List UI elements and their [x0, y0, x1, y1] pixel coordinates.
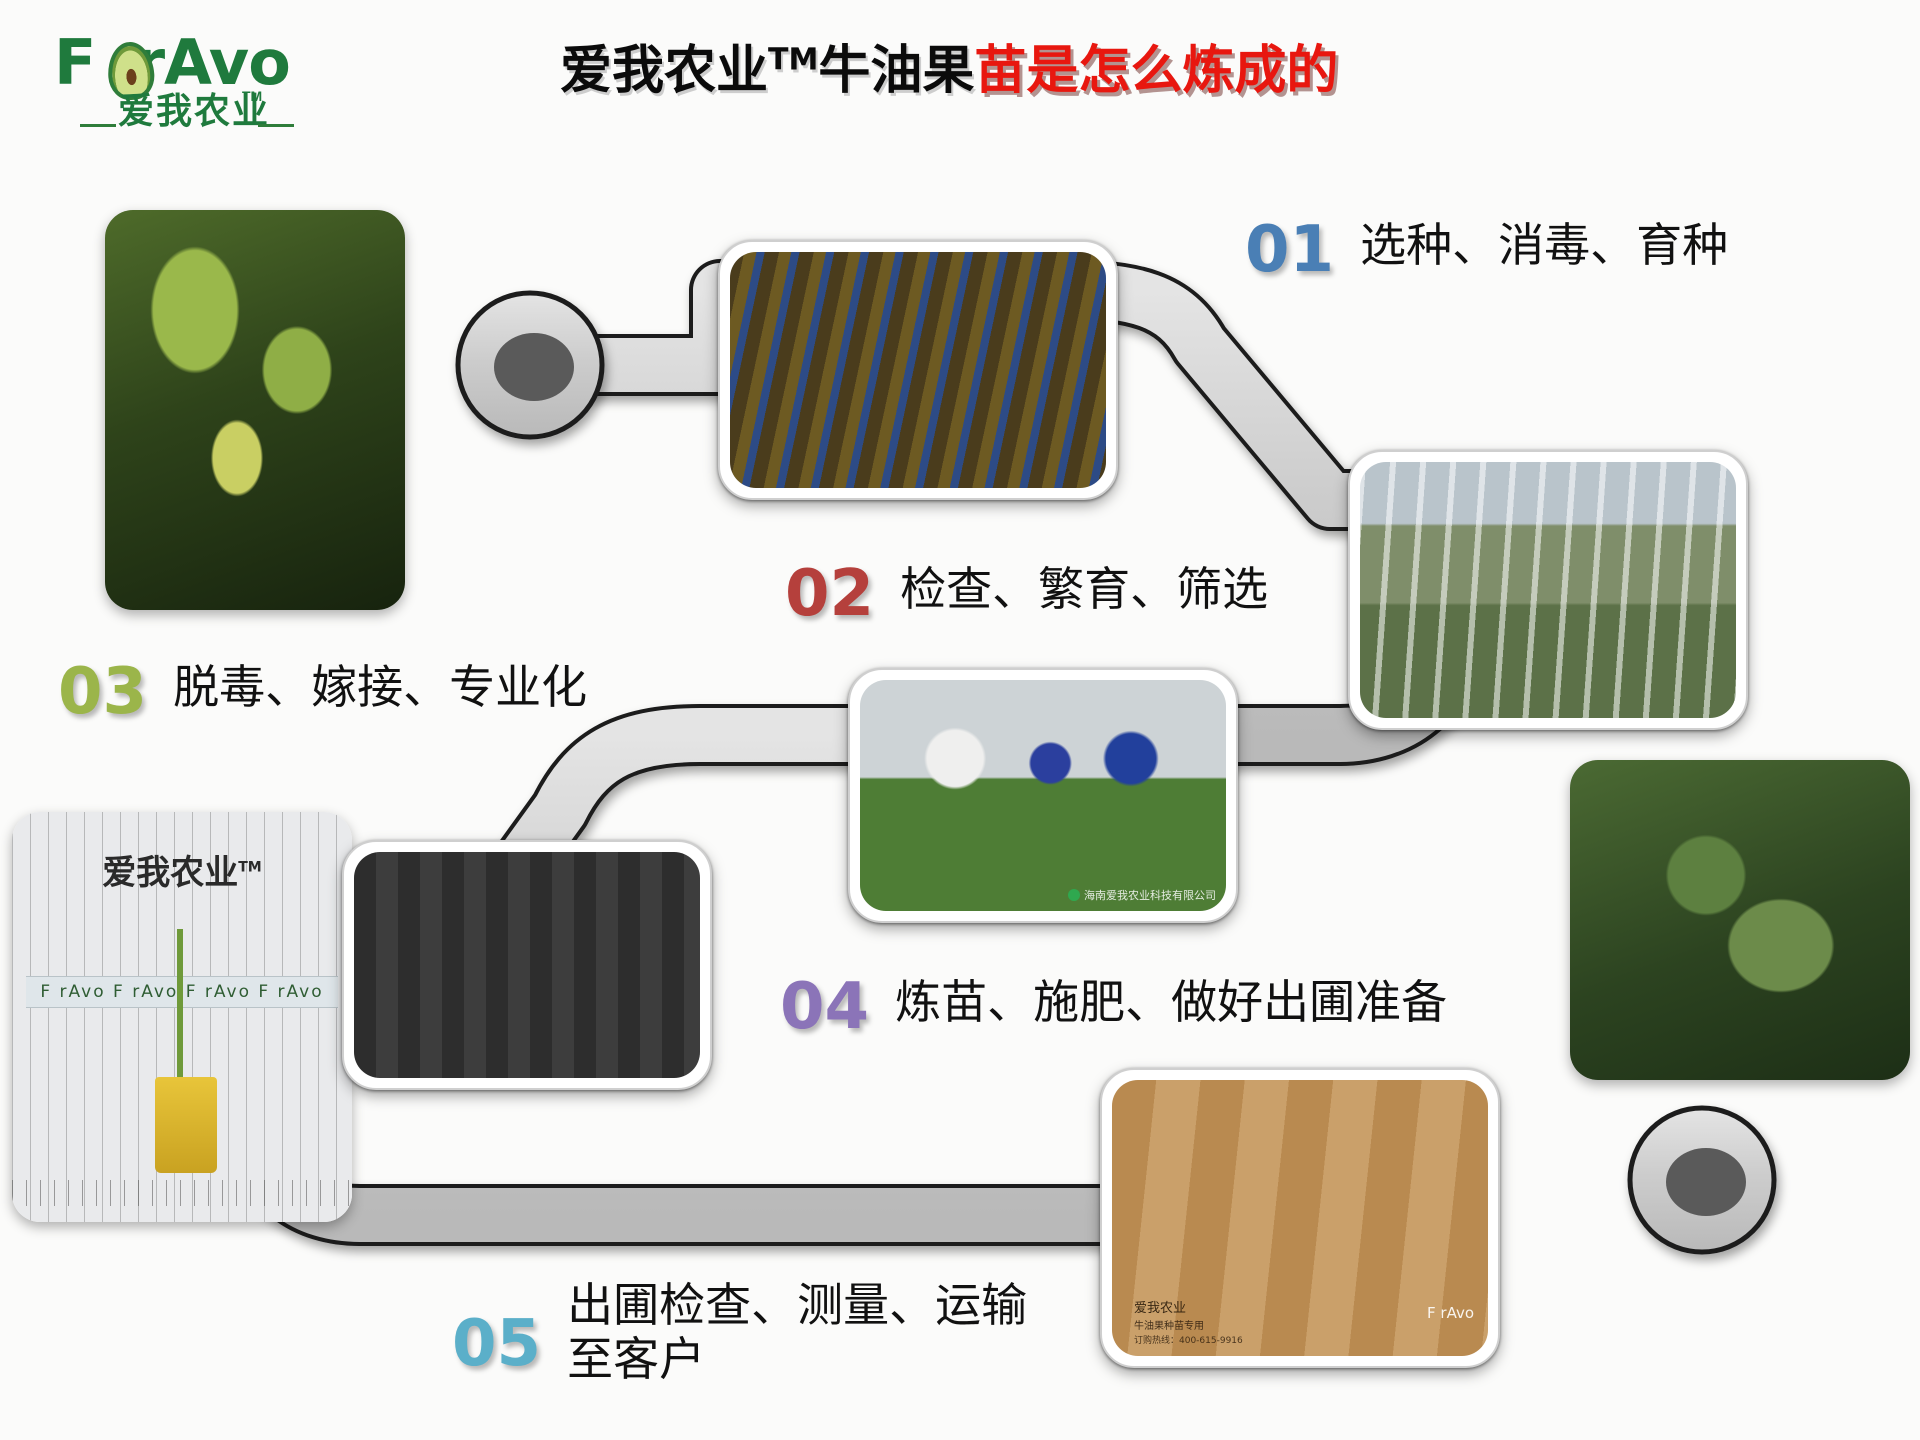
flowering-avocado-branch-photo	[105, 210, 405, 610]
box-sublabel: 牛油果种苗专用	[1134, 1317, 1204, 1332]
step-03-number: 03	[58, 660, 147, 724]
ruler-caption-tm: TM	[238, 859, 261, 875]
flow-end-knob	[1630, 1108, 1774, 1252]
box-label-brand: 爱我农业	[1134, 1301, 1186, 1316]
step-05: 05 出圃检查、测量、运输 至客户	[452, 1278, 1027, 1387]
step-01-text: 选种、消毒、育种	[1360, 218, 1728, 272]
step-01-number: 01	[1245, 218, 1334, 282]
step-03: 03 脱毒、嫁接、专业化	[58, 660, 587, 724]
step-05-number: 05	[452, 1312, 541, 1376]
step-04-number: 04	[780, 975, 869, 1039]
box-label: 爱我农业	[1134, 1297, 1186, 1316]
seed-germination-trays-photo	[718, 240, 1118, 500]
avocado-fruit-on-tree-photo	[1570, 760, 1910, 1080]
step-03-text: 脱毒、嫁接、专业化	[173, 660, 587, 714]
step-02-text: 检查、繁育、筛选	[900, 562, 1268, 616]
seedling-pot	[155, 1077, 217, 1173]
step-04-text: 炼苗、施肥、做好出圃准备	[895, 975, 1447, 1029]
seedling-stem	[177, 929, 183, 1099]
step-04: 04 炼苗、施肥、做好出圃准备	[780, 975, 1447, 1039]
infographic-canvas: ForAvo 爱我农业 TM 爱我农业TM牛油果苗是怎么炼成的	[0, 0, 1920, 1440]
step-02-number: 02	[785, 562, 874, 626]
step-01: 01 选种、消毒、育种	[1245, 218, 1728, 282]
measured-seedling-ruler-photo: 爱我农业TM F rAvo F rAvo F rAvo F rAvo	[12, 812, 352, 1222]
flow-start-knob	[458, 293, 602, 437]
box-side-brand: F rAvo	[1427, 1304, 1474, 1322]
photo-watermark: 海南爱我农业科技有限公司	[1068, 887, 1216, 903]
step-05-text: 出圃检查、测量、运输 至客户	[567, 1278, 1027, 1387]
box-phone: 订购热线：400-615-9916	[1134, 1333, 1243, 1346]
potted-seedlings-rows-photo	[342, 840, 712, 1090]
ruler-bottom-scale	[12, 1180, 352, 1206]
watermark-text: 海南爱我农业科技有限公司	[1084, 889, 1216, 902]
ruler-brand-caption: 爱我农业TM	[102, 845, 261, 894]
packing-boxes-shipping-photo: 爱我农业 牛油果种苗专用 订购热线：400-615-9916 F rAvo	[1100, 1068, 1500, 1368]
team-inspection-photo: 海南爱我农业科技有限公司	[848, 668, 1238, 923]
ruler-caption-text: 爱我农业	[102, 853, 238, 893]
step-02: 02 检查、繁育、筛选	[785, 562, 1268, 626]
greenhouse-grafting-bags-photo	[1348, 450, 1748, 730]
watermark-logo-icon	[1068, 889, 1080, 901]
